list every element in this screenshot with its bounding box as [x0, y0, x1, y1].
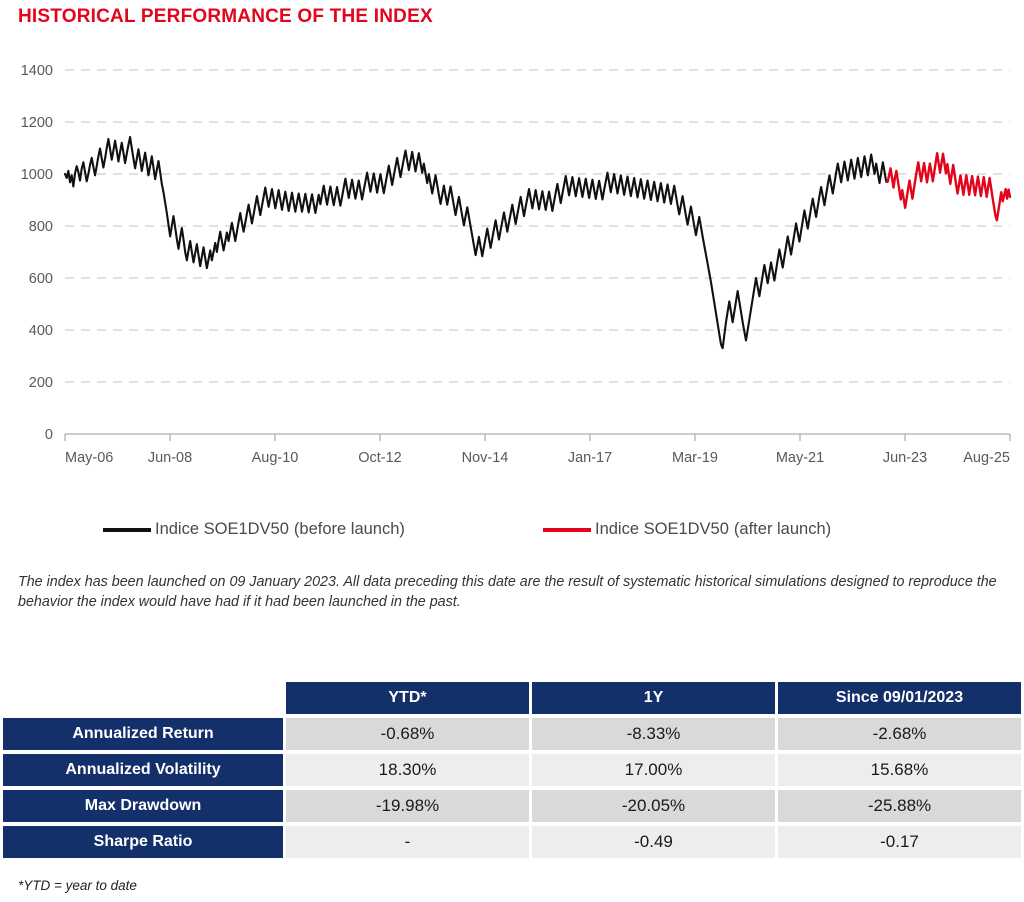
table-cell: -: [286, 826, 529, 858]
table-column-header-since-launch: Since 09/01/2023: [778, 682, 1021, 714]
svg-text:Oct-12: Oct-12: [358, 450, 402, 466]
chart-gridlines: [65, 70, 1010, 382]
svg-text:Nov-14: Nov-14: [462, 450, 509, 466]
table-cell: -0.17: [778, 826, 1021, 858]
table-row-header-max-drawdown: Max Drawdown: [3, 790, 283, 822]
performance-metrics-table: YTD* 1Y Since 09/01/2023 Annualized Retu…: [0, 678, 1024, 862]
line-swatch-red-icon: [543, 528, 591, 532]
svg-text:Jun-23: Jun-23: [883, 450, 927, 466]
svg-text:Aug-25: Aug-25: [963, 450, 1010, 466]
page-title: HISTORICAL PERFORMANCE OF THE INDEX: [18, 6, 433, 28]
svg-text:200: 200: [29, 375, 53, 391]
table-cell: 17.00%: [532, 754, 775, 786]
table-cell: -0.68%: [286, 718, 529, 750]
table-cell: -8.33%: [532, 718, 775, 750]
svg-text:Mar-19: Mar-19: [672, 450, 718, 466]
legend-label-after-suffix: (after launch): [734, 520, 831, 539]
table-row-header-annualized-return: Annualized Return: [3, 718, 283, 750]
table-row: Annualized Volatility 18.30% 17.00% 15.6…: [3, 754, 1021, 786]
svg-text:1000: 1000: [21, 167, 53, 183]
svg-text:May-21: May-21: [776, 450, 824, 466]
svg-text:1400: 1400: [21, 63, 53, 79]
table-column-header-1y: 1Y: [532, 682, 775, 714]
chart-legend: Indice SOE1DV50 (before launch) Indice S…: [0, 516, 1024, 558]
table-cell: 18.30%: [286, 754, 529, 786]
table-cell: -25.88%: [778, 790, 1021, 822]
table-row-header-annualized-volatility: Annualized Volatility: [3, 754, 283, 786]
svg-text:Jun-08: Jun-08: [148, 450, 192, 466]
table-cell: -20.05%: [532, 790, 775, 822]
chart-x-axis-ticks: [65, 434, 1010, 441]
table-corner-cell: [3, 682, 283, 714]
legend-item-before-launch: Indice SOE1DV50 (before launch): [103, 520, 405, 539]
legend-label-after-name: Indice SOE1DV50: [595, 520, 729, 539]
table-cell: -19.98%: [286, 790, 529, 822]
chart-y-axis-labels: 0200400600800100012001400: [21, 63, 53, 443]
table-cell: -2.68%: [778, 718, 1021, 750]
legend-label-before-name: Indice SOE1DV50: [155, 520, 289, 539]
svg-text:400: 400: [29, 323, 53, 339]
table-row: Annualized Return -0.68% -8.33% -2.68%: [3, 718, 1021, 750]
table-cell: 15.68%: [778, 754, 1021, 786]
table-row: Max Drawdown -19.98% -20.05% -25.88%: [3, 790, 1021, 822]
legend-item-after-launch: Indice SOE1DV50 (after launch): [543, 520, 831, 539]
svg-text:1200: 1200: [21, 115, 53, 131]
legend-label-before-suffix: (before launch): [294, 520, 405, 539]
series-line-before-launch: [65, 137, 886, 348]
svg-text:Aug-10: Aug-10: [252, 450, 299, 466]
svg-text:0: 0: [45, 427, 53, 443]
svg-text:Jan-17: Jan-17: [568, 450, 612, 466]
svg-text:800: 800: [29, 219, 53, 235]
chart-x-axis-labels: May-06Jun-08Aug-10Oct-12Nov-14Jan-17Mar-…: [65, 450, 1010, 466]
svg-text:May-06: May-06: [65, 450, 113, 466]
line-swatch-black-icon: [103, 528, 151, 532]
performance-chart: 0200400600800100012001400 May-06Jun-08Au…: [0, 52, 1024, 482]
series-line-after-launch: [886, 153, 1010, 220]
table-footnote: *YTD = year to date: [18, 878, 137, 893]
table-header-row: YTD* 1Y Since 09/01/2023: [3, 682, 1021, 714]
svg-text:600: 600: [29, 271, 53, 287]
table-row: Sharpe Ratio - -0.49 -0.17: [3, 826, 1021, 858]
table-column-header-ytd: YTD*: [286, 682, 529, 714]
table-cell: -0.49: [532, 826, 775, 858]
table-row-header-sharpe-ratio: Sharpe Ratio: [3, 826, 283, 858]
launch-disclaimer-text: The index has been launched on 09 Januar…: [18, 572, 1008, 613]
chart-canvas: 0200400600800100012001400 May-06Jun-08Au…: [0, 52, 1024, 482]
